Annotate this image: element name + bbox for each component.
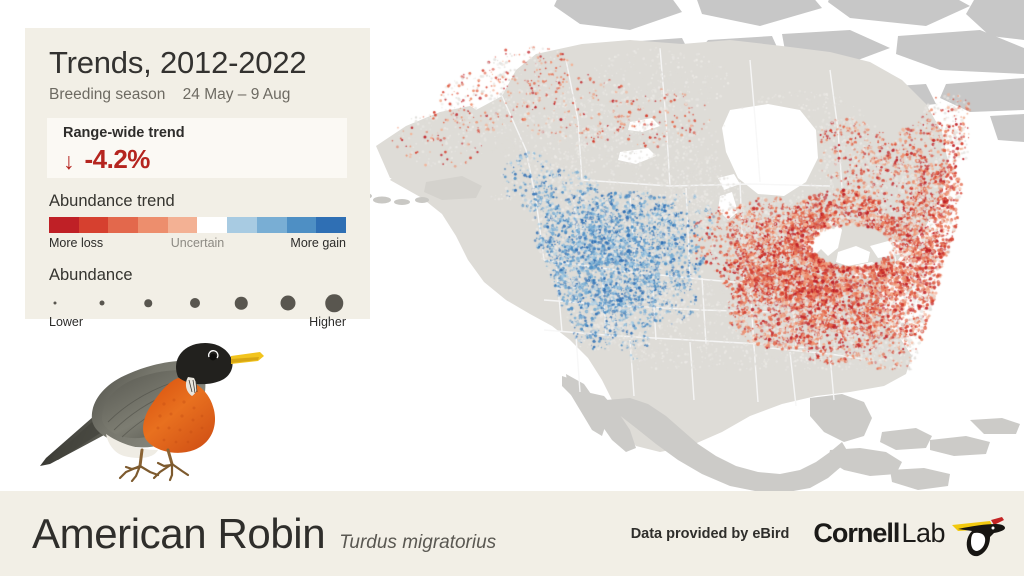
colorbar-swatch-6: [227, 217, 257, 233]
footer-bar: American Robin Turdus migratorius Data p…: [0, 491, 1024, 576]
colorbar-label-high: More gain: [290, 236, 346, 250]
colorbar-swatch-3: [138, 217, 168, 233]
trends-infographic: Trends, 2012-2022 Breeding season 24 May…: [0, 0, 1024, 576]
robin-head: [176, 343, 233, 384]
abundance-trend-legend-title: Abundance trend: [49, 192, 348, 211]
abundance-size-legend: [49, 292, 346, 314]
abundance-dot-0: [54, 302, 57, 305]
abundance-dot-5: [280, 296, 295, 311]
ebird-credit: Data provided by eBird: [631, 526, 790, 542]
woodpecker-logo-icon: [950, 511, 1006, 557]
species-scientific-name: Turdus migratorius: [339, 532, 496, 554]
colorbar-swatch-1: [79, 217, 109, 233]
colorbar-swatch-2: [108, 217, 138, 233]
robin-svg: [28, 330, 318, 482]
abundance-trend-colorbar: More loss Uncertain More gain: [49, 217, 346, 252]
map-trend-dots: [330, 0, 1024, 491]
abundance-dot-4: [235, 297, 248, 310]
cornell-logo-cornell: Cornell: [813, 518, 899, 549]
page-title: Trends, 2012-2022: [49, 46, 348, 79]
north-america-trend-map[interactable]: [330, 0, 1024, 491]
size-legend-label-high: Higher: [309, 315, 346, 329]
cornell-lab-logo[interactable]: Cornell Lab: [813, 511, 1006, 557]
arrow-down-icon: ↓: [63, 150, 75, 173]
colorbar-swatch-7: [257, 217, 287, 233]
range-wide-trend-card: Range-wide trend ↓ -4.2%: [47, 118, 347, 178]
season-subtitle: Breeding season 24 May – 9 Aug: [49, 86, 348, 105]
american-robin-illustration: [28, 330, 318, 482]
colorbar-swatch-4: [168, 217, 198, 233]
colorbar-label-low: More loss: [49, 236, 103, 250]
species-name-block: American Robin Turdus migratorius: [32, 510, 496, 558]
range-wide-trend-value: -4.2%: [85, 144, 150, 175]
season-dates: 24 May – 9 Aug: [183, 86, 291, 103]
abundance-dot-6: [325, 294, 343, 312]
abundance-dot-3: [190, 298, 200, 308]
colorbar-swatch-8: [287, 217, 317, 233]
abundance-dot-2: [144, 299, 152, 307]
colorbar-swatch-5: [197, 217, 227, 233]
colorbar-label-mid: Uncertain: [171, 236, 225, 250]
robin-feet: [120, 463, 188, 481]
cornell-logo-lab: Lab: [901, 518, 945, 549]
size-legend-label-low: Lower: [49, 315, 83, 329]
abundance-dot-1: [99, 301, 104, 306]
species-common-name: American Robin: [32, 510, 325, 558]
colorbar-swatch-9: [316, 217, 346, 233]
legend-panel: Trends, 2012-2022 Breeding season 24 May…: [25, 28, 370, 319]
robin-eye: [210, 354, 217, 361]
colorbar-swatch-0: [49, 217, 79, 233]
abundance-legend-title: Abundance: [49, 266, 348, 285]
footer-credits: Data provided by eBird Cornell Lab: [631, 511, 1006, 557]
colorbar-swatches: [49, 217, 346, 233]
range-wide-trend-label: Range-wide trend: [63, 126, 347, 142]
season-label: Breeding season: [49, 86, 165, 103]
